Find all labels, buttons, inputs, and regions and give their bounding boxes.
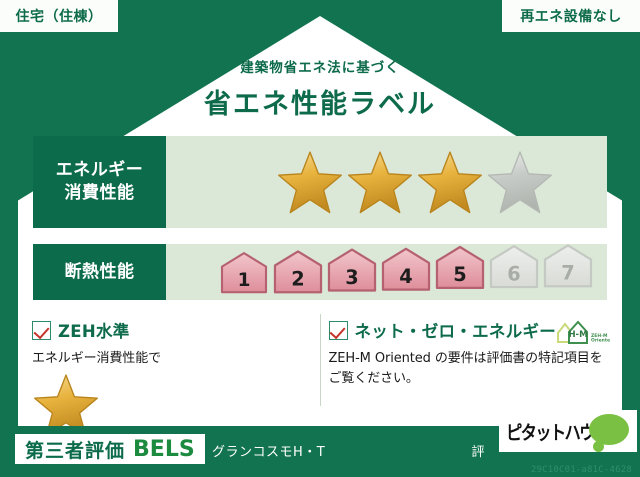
svg-text:H-M: H-M [568, 330, 587, 340]
zeh-m-oriented-logo-icon: H-M ZEH-M Oriented [554, 314, 610, 348]
insulation-level-5: 5 [434, 241, 486, 295]
building-type-tag: 住宅（住棟） [0, 0, 118, 32]
energy-performance-label: エネルギー 消費性能 [33, 136, 166, 228]
bels-en-label: BELS [133, 437, 195, 462]
insulation-performance-row: 断熱性能 1234567 [33, 244, 607, 300]
title-block: 建築物省エネ法に基づく 省エネ性能ラベル [0, 56, 640, 121]
energy-performance-row: エネルギー 消費性能 [33, 136, 607, 228]
energy-label-line2: 消費性能 [65, 182, 135, 205]
zeh-note-header: ZEH水準 [32, 318, 314, 342]
certificate-code: 29C10C01-a81C-4628 [531, 465, 632, 475]
insulation-rating-body: 1234567 [166, 244, 607, 300]
title-main: 省エネ性能ラベル [0, 82, 640, 121]
checkmark-icon [32, 321, 51, 340]
zeh-note: ZEH水準 エネルギー消費性能で3つ（太陽光発電は考慮しない）、かつ断熱性能で5… [24, 314, 321, 406]
svg-text:Oriented: Oriented [591, 338, 610, 344]
star-rating [276, 149, 554, 215]
star-3 [416, 149, 484, 215]
svg-text:1: 1 [238, 270, 251, 291]
checkmark-icon [329, 321, 348, 340]
title-subtitle: 建築物省エネ法に基づく [0, 56, 640, 76]
energy-performance-label: 住宅（住棟） 再エネ設備なし 建築物省エネ法に基づく 省エネ性能ラベル エネルギ… [0, 0, 640, 477]
nze-note: ネット・ゼロ・エネルギー ZEH-M Oriented の要件は評価書の特記項目… [321, 314, 617, 406]
insulation-label-text: 断熱性能 [65, 261, 135, 284]
svg-text:6: 6 [507, 262, 520, 285]
notes-section: ZEH水準 エネルギー消費性能で3つ（太陽光発電は考慮しない）、かつ断熱性能で5… [24, 314, 616, 406]
energy-rating-body [166, 136, 607, 228]
star-1 [276, 149, 344, 215]
bels-jp-label: 第三者評価 [25, 436, 125, 463]
property-name: グランコスモH・T [212, 441, 325, 460]
insulation-level-3: 3 [326, 246, 378, 295]
star-4 [486, 149, 554, 215]
svg-text:4: 4 [399, 265, 412, 288]
renewable-energy-tag: 再エネ設備なし [502, 0, 640, 32]
nze-note-title: ネット・ゼロ・エネルギー [355, 318, 557, 342]
insulation-level-2: 2 [272, 249, 324, 295]
svg-text:7: 7 [561, 261, 574, 284]
evaluation-label: 評 [471, 441, 485, 460]
svg-text:2: 2 [291, 267, 304, 290]
insulation-performance-label: 断熱性能 [33, 244, 166, 300]
nze-note-body: ZEH-M Oriented の要件は評価書の特記項目をご覧ください。 [329, 349, 611, 389]
zeh-note-title: ZEH水準 [58, 318, 130, 342]
star-2 [346, 149, 414, 215]
insulation-level-7: 7 [542, 237, 594, 295]
insulation-level-4: 4 [380, 244, 432, 295]
svg-text:5: 5 [453, 264, 466, 287]
insulation-level-1: 1 [218, 251, 270, 295]
energy-label-line1: エネルギー [56, 159, 144, 182]
insulation-level-6: 6 [488, 239, 540, 295]
pitat-house-logo: ピタットハウス [499, 410, 637, 452]
svg-text:3: 3 [345, 266, 358, 289]
bels-chip: 第三者評価 BELS [15, 434, 205, 464]
speech-bubble-icon [589, 414, 629, 445]
insulation-scale: 1234567 [218, 249, 594, 295]
zeh-body-part1: エネルギー消費性能で [32, 351, 161, 366]
